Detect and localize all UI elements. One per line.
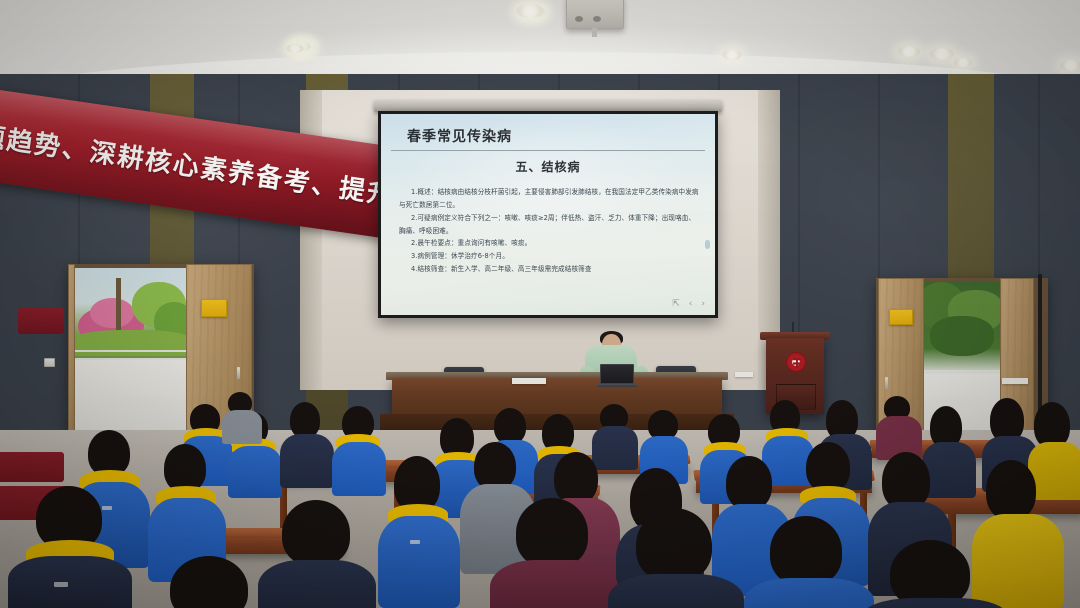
student-badge (102, 506, 112, 510)
slide-content: 春季常见传染病 五、结核病 1.概述：结核病由结核分枝杆菌引起，主要侵害肺部引发… (381, 114, 715, 315)
stage-table (392, 378, 722, 416)
door-handle[interactable] (885, 377, 888, 389)
door-handle[interactable] (237, 367, 240, 379)
student-jacket (592, 426, 638, 470)
balcony-railing (922, 370, 1002, 372)
lecture-hall-photo: 题趋势、深耕核心素养备考、提升生物教学实效 春季常见传染病 五、结核病 1.概述… (0, 0, 1080, 608)
auditorium-seat[interactable] (0, 452, 64, 482)
student-jacket (258, 560, 376, 608)
slide-navigation[interactable]: ⇱ ‹ › (672, 299, 705, 309)
slide-body: 1.概述：结核病由结核分枝杆菌引起，主要侵害肺部引发肺结核，在我国法定甲乙类传染… (399, 186, 701, 276)
student-hair (516, 498, 588, 568)
slide-subtitle: 五、结核病 (381, 158, 715, 175)
slide-title: 春季常见传染病 (407, 126, 512, 146)
slide-divider (391, 150, 705, 151)
left-window-view (72, 268, 188, 430)
ceiling-downlight (516, 4, 544, 18)
left-door-leaf-open[interactable] (68, 264, 75, 434)
student-hair (494, 408, 526, 444)
projection-screen: 春季常见传染病 五、结核病 1.概述：结核病由结核分枝杆菌引起，主要侵害肺部引发… (378, 111, 718, 318)
door-sign (889, 309, 913, 325)
right-window-view (922, 282, 1002, 430)
shrub (72, 330, 188, 356)
student-jacket (332, 442, 386, 496)
laptop-screen (600, 364, 634, 384)
student-hair (726, 456, 772, 510)
student-hair (554, 452, 598, 504)
slide-line: 4.结核筛查：新生入学、高二年级、高三年级需完成结核筛查 (399, 263, 701, 276)
ceiling-downlight (1060, 60, 1080, 71)
palm-foliage (930, 316, 994, 356)
chevron-right-icon[interactable]: › (701, 299, 705, 309)
student-hair (636, 508, 712, 582)
balcony-parapet (72, 360, 188, 430)
left-doorway (68, 264, 254, 434)
door-sign (201, 299, 227, 317)
ceiling-downlight (722, 50, 742, 60)
student-hair (282, 500, 350, 566)
ceiling-downlight (930, 48, 954, 60)
school-emblem-icon (786, 352, 806, 372)
paper-sheet (1002, 378, 1028, 384)
student-jacket (922, 442, 976, 498)
slide-line: 2.晨午检要点：重点询问有咳嗽、咳痰。 (399, 237, 701, 250)
paper-sheet (512, 378, 546, 384)
projector-icon (566, 0, 624, 29)
student-hair (164, 444, 206, 492)
auditorium-seat[interactable] (18, 308, 64, 334)
tree-trunk (116, 278, 121, 336)
laptop-base (597, 384, 637, 387)
student-hair (806, 442, 850, 492)
projector-mount (592, 28, 597, 37)
slide-scroll-indicator (705, 240, 710, 249)
student-jacket (228, 446, 282, 498)
slide-line: 1.概述：结核病由结核分枝杆菌引起，主要侵害肺部引发肺结核，在我国法定甲乙类传染… (399, 186, 701, 212)
light-switch[interactable] (44, 358, 55, 367)
chevron-left-icon[interactable]: ‹ (689, 299, 693, 309)
podium (766, 338, 824, 414)
student-badge (410, 540, 420, 544)
student-jacket (972, 514, 1064, 608)
student-jacket (490, 560, 618, 608)
slide-line: 3.病例管理：休学治疗6-8个月。 (399, 250, 701, 263)
student-hair (770, 516, 842, 586)
student-jacket (222, 410, 262, 444)
student-jacket (744, 578, 874, 608)
student-jacket (8, 556, 132, 608)
ceiling-downlight (898, 46, 920, 57)
student-hair (986, 460, 1036, 520)
tree-foliage (90, 298, 134, 328)
slide-line: 2.可疑病例定义符合下列之一：咳嗽、咳痰≥2周；伴低热、盗汗、乏力、体重下降；出… (399, 212, 701, 238)
student-jacket (378, 516, 460, 608)
student-jacket (608, 574, 744, 608)
paper-sheet (735, 372, 753, 377)
student-hair (290, 402, 320, 438)
student-hair (474, 442, 516, 490)
student-jacket (280, 434, 334, 488)
share-icon[interactable]: ⇱ (672, 299, 680, 309)
ceiling-downlight (954, 58, 972, 67)
ceiling-downlight (286, 44, 304, 53)
balcony-railing (72, 350, 188, 352)
student-badge (54, 582, 68, 587)
